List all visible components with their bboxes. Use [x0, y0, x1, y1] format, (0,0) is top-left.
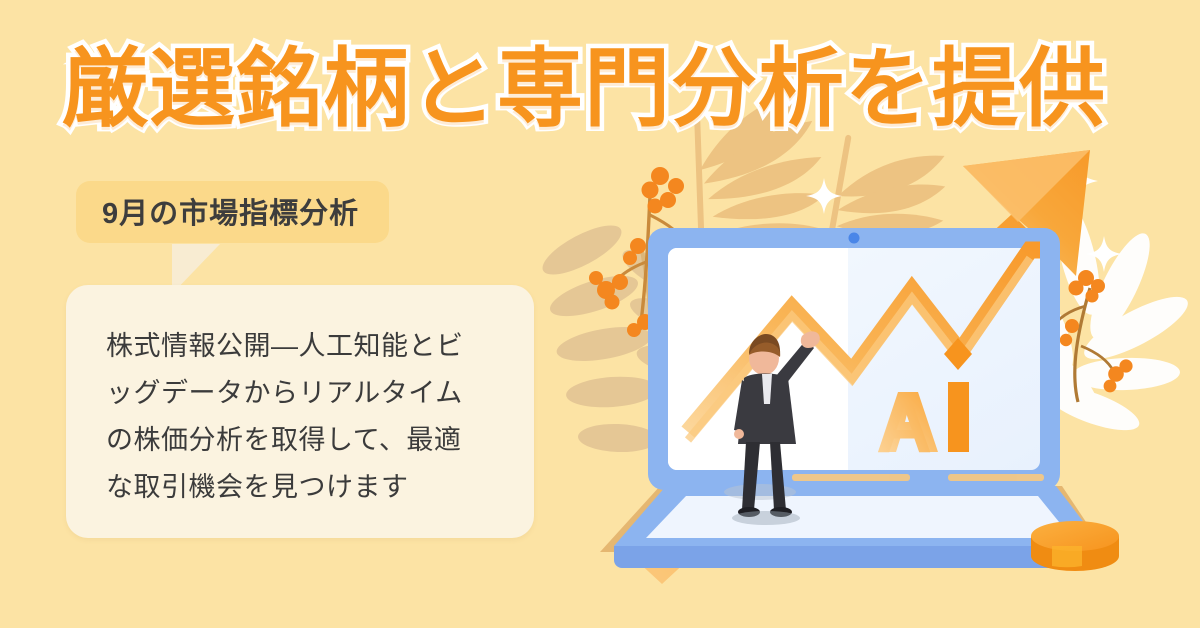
description-line-2: ッグデータからリアルタイム	[106, 370, 506, 417]
berry-branch-icon	[589, 167, 712, 337]
leaf-branch-icon	[536, 216, 710, 453]
description-line-4: な取引機会を見つけます	[106, 464, 506, 511]
laptop-icon: A	[600, 228, 1106, 568]
description-text: 株式情報公開—人工知能とビ ッグデータからリアルタイム の株価分析を取得して、最…	[106, 323, 506, 511]
ai-logo: A	[876, 338, 972, 469]
uptrend-arrow-icon	[636, 150, 1090, 584]
businessman-figure	[732, 331, 820, 525]
svg-text:A: A	[876, 381, 932, 469]
promo-banner: A	[0, 0, 1200, 628]
chart-line	[688, 250, 1040, 440]
description-line-3: の株価分析を取得して、最適	[106, 417, 506, 464]
white-leaf-fan-icon	[1017, 194, 1195, 439]
coin-icon	[1031, 521, 1119, 571]
berry-branch-icon-right	[1029, 270, 1132, 402]
description-line-1: 株式情報公開—人工知能とビ	[106, 323, 506, 370]
page-title: 厳選銘柄と専門分析を提供	[62, 46, 1106, 132]
sparkle-icon	[806, 158, 1122, 272]
status-badge: 9月の市場指標分析	[76, 181, 389, 243]
